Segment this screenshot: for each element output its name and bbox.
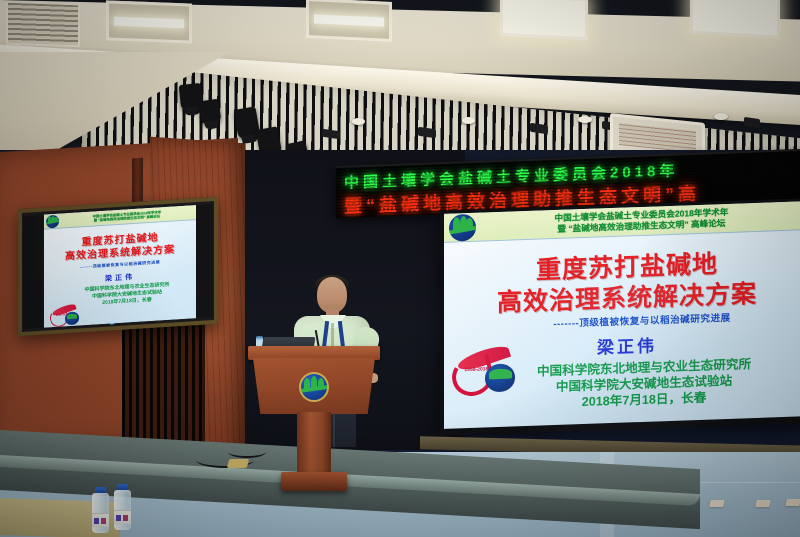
ceiling-downlight-1 — [352, 118, 365, 125]
ceiling-downlight-4 — [714, 113, 728, 120]
monitor-bezel-right — [193, 204, 213, 318]
slide-body: 重度苏打盐碱地 高效治理系统解决方案 -------顶级植被恢复与以稻治碱研究进… — [444, 246, 800, 429]
presentation-slide: 中国土壤学会盐碱土专业委员会2018年学术年 暨 “盐碱地高效治理助推生态文明”… — [444, 201, 800, 429]
soil-society-globe-logo — [449, 213, 476, 241]
ceiling-vent-grille — [6, 1, 80, 48]
spotlight-2 — [198, 99, 221, 126]
water-bottle-2 — [114, 484, 131, 530]
podium-desktop — [248, 346, 380, 360]
floor-cable-2 — [228, 446, 266, 458]
monitor-screen: 中国土壤学会盐碱土专业委员会2018年学术年 暨 “盐碱地高效治理助推生态文明”… — [44, 205, 196, 328]
soil-society-globe-logo — [46, 214, 59, 228]
water-bottle-1 — [92, 487, 109, 533]
projection-screen: 中国土壤学会盐碱土专业委员会2018年学术年 暨 “盐碱地高效治理助推生态文明”… — [440, 198, 800, 436]
ceiling-light-4 — [690, 0, 780, 39]
60th-anniversary-logo: 1958-2018 — [452, 352, 514, 398]
conference-hall-photo: 中国土壤学会盐碱土专业委员会2018年学术年 暨 “盐碱地高效治理助推生态文明”… — [0, 0, 800, 537]
floor-debris-4 — [755, 500, 770, 507]
ceiling-downlight-3 — [578, 116, 592, 123]
60th-anniversary-logo: 1958-2018 — [50, 307, 78, 328]
ceiling-light-2 — [306, 0, 392, 42]
wooden-podium — [248, 346, 380, 491]
floor-debris-5 — [785, 499, 800, 506]
ceiling-downlight-2 — [462, 117, 475, 124]
podium-base — [281, 472, 347, 491]
power-strip — [227, 459, 250, 468]
monitor-bezel-left — [23, 215, 43, 329]
wall-mounted-monitor[interactable]: 中国土壤学会盐碱土专业委员会2018年学术年 暨 “盐碱地高效治理助推生态文明”… — [18, 197, 218, 337]
ceiling-fixture-5 — [744, 117, 760, 128]
slide-body-mini: 重度苏打盐碱地 高效治理系统解决方案 -------顶级植被恢复与以稻治碱研究进… — [44, 229, 196, 327]
floor-debris-3 — [709, 500, 724, 507]
head — [317, 277, 347, 313]
anniversary-years: 1958-2018 — [464, 366, 488, 373]
slide-mini: 中国土壤学会盐碱土专业委员会2018年学术年 暨 “盐碱地高效治理助推生态文明”… — [44, 205, 196, 328]
ceiling-light-3 — [500, 0, 588, 40]
institute-globe-emblem — [299, 372, 329, 402]
ceiling-light-1 — [106, 0, 192, 43]
slide-header-mini: 中国土壤学会盐碱土专业委员会2018年学术年 暨 “盐碱地高效治理助推生态文明”… — [44, 205, 196, 230]
podium-column — [297, 412, 331, 474]
